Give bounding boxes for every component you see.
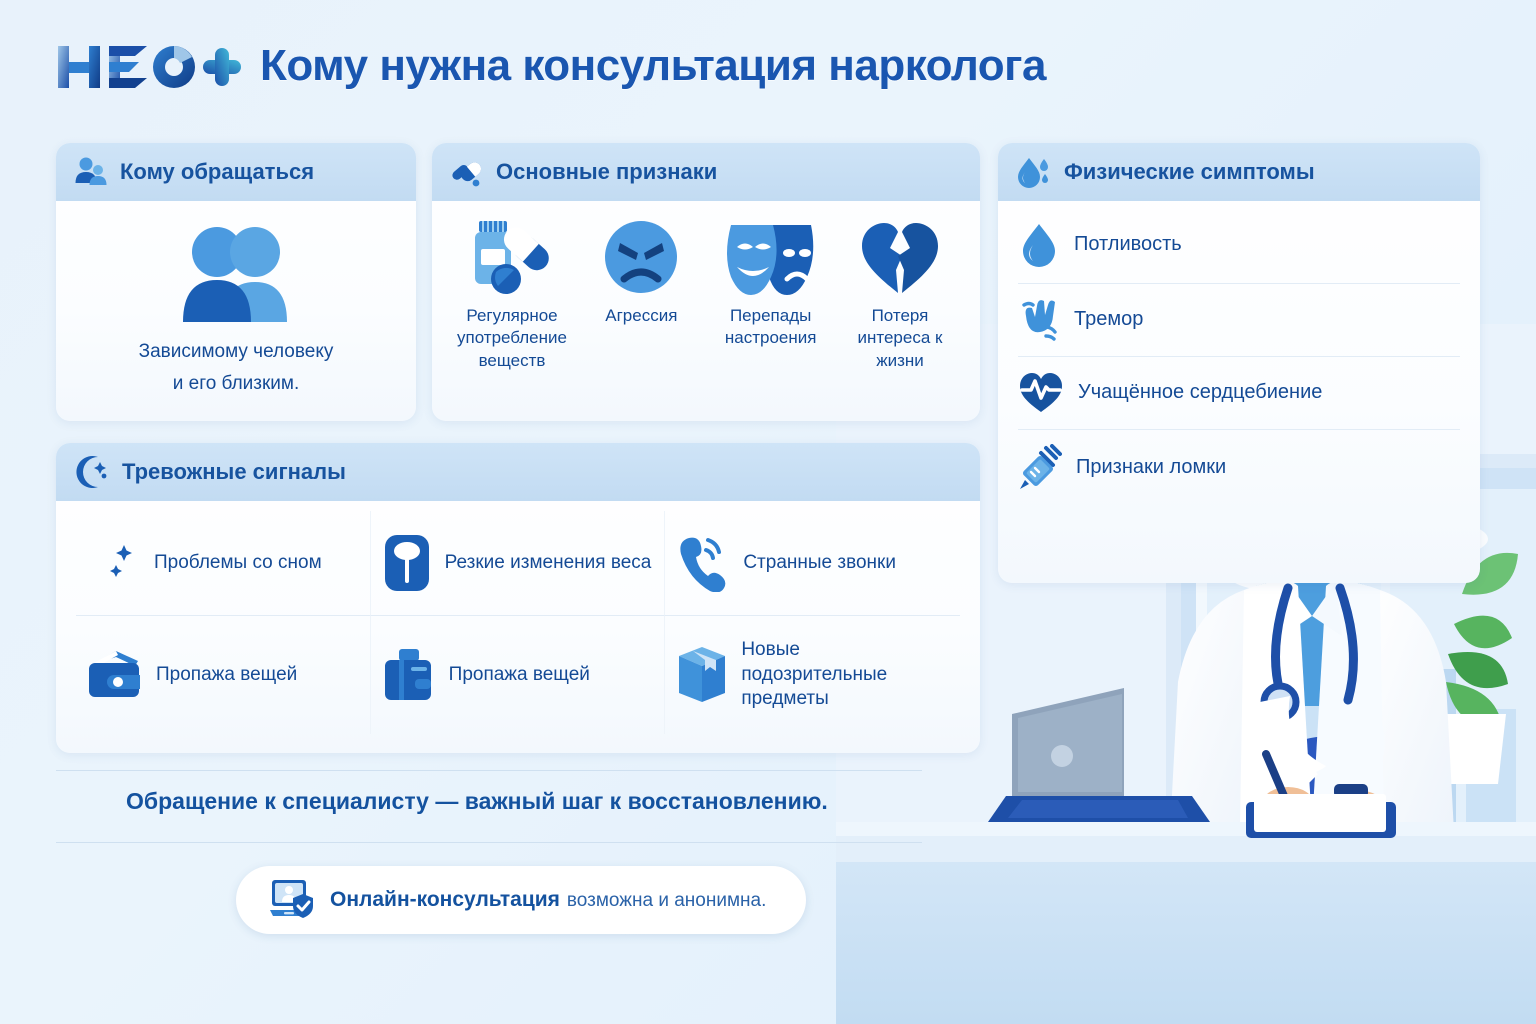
card-header: Физические симптомы	[998, 143, 1480, 201]
alarm-grid: Проблемы со сном Резкие изменения веса	[76, 511, 960, 734]
list-item: Признаки ломки	[1018, 429, 1460, 506]
physical-symptom-list: Потливость Тремор Учащённое сердцебиение	[1018, 207, 1460, 506]
syringe-icon	[1018, 444, 1062, 492]
alarm-item: Странные звонки	[665, 511, 960, 616]
footer-note: Обращение к специалисту — важный шаг к в…	[126, 788, 828, 815]
card-body: Регулярное употребление веществ Агрессия	[432, 201, 980, 388]
alarm-label: Резкие изменения веса	[445, 551, 652, 576]
who-text-line-1: Зависимому человеку	[139, 338, 334, 366]
card-alarm-signals: Тревожные сигналы Проблемы со сном Резки…	[56, 443, 980, 753]
brand-logo	[56, 38, 242, 94]
water-drop-icon	[1016, 154, 1052, 190]
symptom-label: Учащённое сердцебиение	[1078, 380, 1322, 406]
list-item: Учащённое сердцебиение	[1018, 356, 1460, 429]
card-physical-symptoms: Физические симптомы Потливость Тремор	[998, 143, 1480, 583]
neo-plus-logo-icon	[56, 38, 242, 94]
people-icon	[74, 155, 108, 189]
symptom-label: Потливость	[1074, 232, 1182, 258]
alarm-item: Резкие изменения веса	[371, 511, 666, 616]
online-consult-icon	[270, 878, 316, 922]
footer-divider-bottom	[56, 842, 922, 843]
alarm-label: Проблемы со сном	[154, 551, 322, 576]
card-header: Кому обращаться	[56, 143, 416, 201]
briefcase-icon	[381, 647, 437, 703]
scale-icon	[381, 533, 433, 593]
card-header: Тревожные сигналы	[56, 443, 980, 501]
wallet-icon	[86, 649, 144, 701]
sign-label: Регулярное употребление веществ	[450, 305, 574, 372]
pill-strong-text: Онлайн-консультация	[330, 888, 560, 912]
pill-rest-text: возможна и анонимна.	[567, 890, 766, 912]
symptom-label: Тремор	[1074, 307, 1143, 333]
card-title: Тревожные сигналы	[122, 459, 346, 485]
package-box-icon	[675, 645, 729, 705]
two-persons-icon	[171, 222, 301, 326]
sign-item: Регулярное употребление веществ	[450, 217, 574, 372]
alarm-item: Пропажа вещей	[76, 616, 371, 734]
pill-bottle-icon	[466, 217, 558, 299]
page-header: Кому нужна консультация нарколога	[56, 38, 1046, 94]
alarm-item: Новые подозрительные предметы	[665, 616, 960, 734]
alarm-label: Пропажа вещей	[449, 663, 590, 688]
sign-label: Агрессия	[605, 305, 677, 327]
card-title: Физические симптомы	[1064, 159, 1315, 185]
heart-pulse-icon	[1018, 371, 1064, 415]
theater-masks-icon	[723, 217, 819, 299]
droplet-icon	[1018, 221, 1060, 269]
card-body: Проблемы со сном Резкие изменения веса	[56, 501, 980, 746]
sign-item: Агрессия	[579, 217, 703, 372]
list-item: Тремор	[1018, 283, 1460, 356]
phone-ring-icon	[675, 534, 731, 592]
crescent-moon-icon	[74, 454, 110, 490]
sign-label: Потеря интереса к жизни	[838, 305, 962, 372]
broken-heart-icon	[858, 217, 942, 299]
card-title: Кому обращаться	[120, 159, 314, 185]
pills-icon	[450, 155, 484, 189]
alarm-label: Странные звонки	[743, 551, 896, 576]
card-header: Основные признаки	[432, 143, 980, 201]
card-who-to-contact: Кому обращаться Зависимому человеку и ег…	[56, 143, 416, 421]
card-main-signs: Основные признаки Регулярное употреблени…	[432, 143, 980, 421]
card-title: Основные признаки	[496, 159, 717, 185]
sign-item: Перепады настроения	[709, 217, 833, 372]
sign-item: Потеря интереса к жизни	[838, 217, 962, 372]
symptom-label: Признаки ломки	[1076, 455, 1226, 481]
alarm-label: Новые подозрительные предметы	[741, 638, 950, 712]
online-consultation-badge[interactable]: Онлайн-консультация возможна и анонимна.	[236, 866, 806, 934]
list-item: Потливость	[1018, 207, 1460, 283]
angry-face-icon	[600, 217, 682, 299]
card-body: Зависимому человеку и его близким.	[56, 201, 416, 421]
footer-divider-top	[56, 770, 922, 771]
sign-label: Перепады настроения	[709, 305, 833, 350]
page-title: Кому нужна консультация нарколога	[260, 41, 1046, 91]
moon-sleep-icon	[86, 535, 142, 591]
card-body: Потливость Тремор Учащённое сердцебиение	[998, 201, 1480, 516]
alarm-label: Пропажа вещей	[156, 663, 297, 688]
shaking-hand-icon	[1018, 298, 1060, 342]
who-text-line-2: и его близким.	[173, 370, 300, 398]
alarm-item: Проблемы со сном	[76, 511, 371, 616]
alarm-item: Пропажа вещей	[371, 616, 666, 734]
